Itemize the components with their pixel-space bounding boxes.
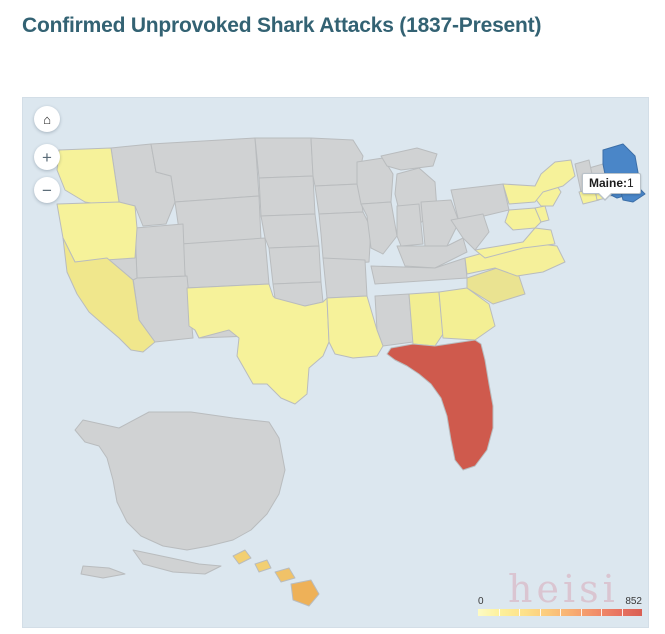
tooltip-label: Maine: [589,176,627,190]
legend-tick [581,609,582,616]
state-group-high [387,340,493,470]
state-alabama [409,292,443,346]
home-icon: ⌂ [43,111,51,128]
us-states-map[interactable] [23,98,649,628]
legend-tick [499,609,500,616]
state-louisiana [327,296,383,358]
plus-icon: + [42,149,52,166]
map-tooltip: Maine:1 [582,173,641,194]
tooltip-value: 1 [627,176,634,190]
shark-attack-map-page: Confirmed Unprovoked Shark Attacks (1837… [0,0,665,634]
choropleth-map-panel[interactable] [22,97,649,628]
state-hawaii-big-island [291,580,319,606]
legend-tick [519,609,520,616]
state-hawaii-oahu [255,560,271,572]
state-washington [57,148,119,206]
state-new-york [503,160,575,204]
legend-tick [540,609,541,616]
state-hawaii-maui [275,568,295,582]
legend-max-label: 852 [625,596,642,607]
legend-gradient-bar [478,609,642,616]
state-florida [387,340,493,470]
legend-min-label: 0 [478,596,484,607]
legend: 0 852 [478,596,642,616]
zoom-out-button[interactable]: − [34,177,60,203]
legend-labels: 0 852 [478,596,642,609]
minus-icon: − [42,182,52,199]
state-group-no-data [75,138,609,578]
legend-tick [622,609,623,616]
legend-tick [560,609,561,616]
page-title: Confirmed Unprovoked Shark Attacks (1837… [22,10,622,41]
state-hawaii-kauai [233,550,251,564]
legend-tick [601,609,602,616]
zoom-in-button[interactable]: + [34,144,60,170]
home-button[interactable]: ⌂ [34,106,60,132]
